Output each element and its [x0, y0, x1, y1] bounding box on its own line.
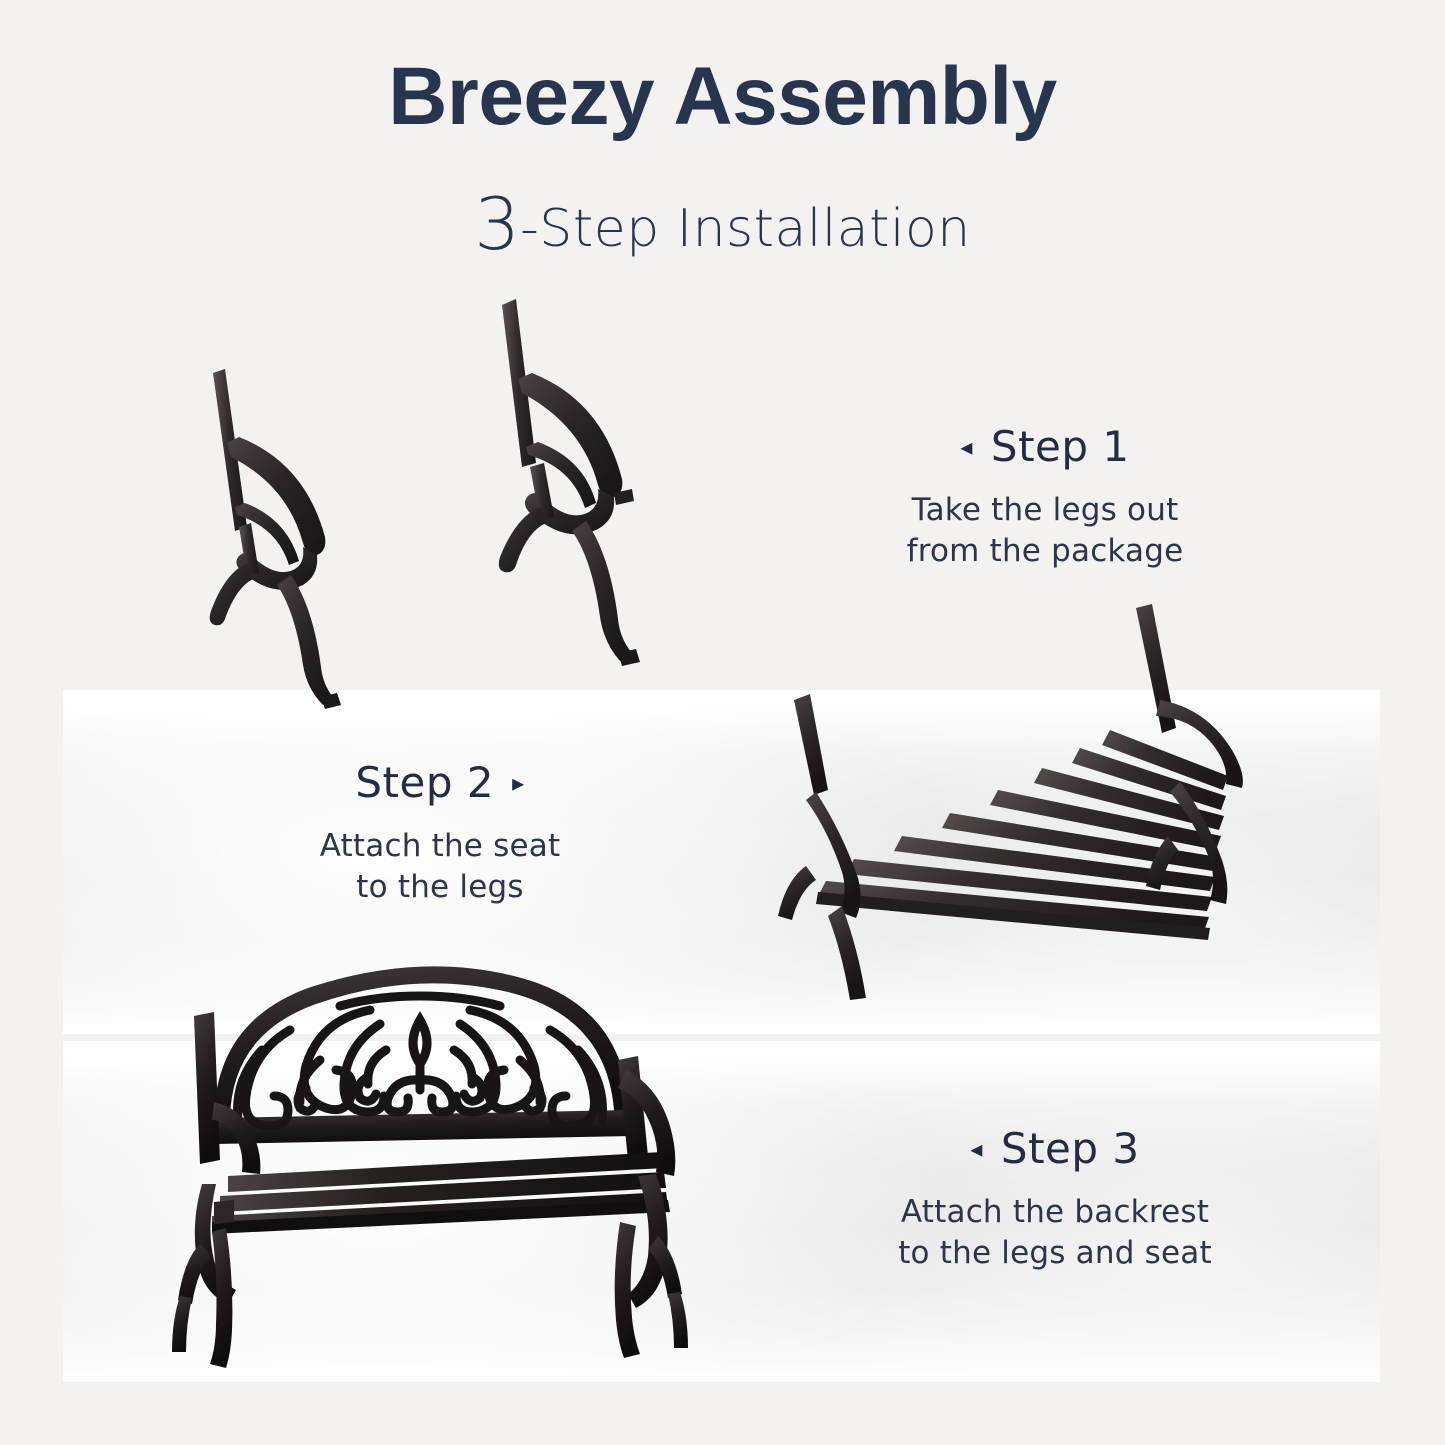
triangle-right-icon: ▸: [512, 771, 525, 795]
step-1-heading: ◂ Step 1: [830, 426, 1260, 468]
subtitle-step-count: 3: [474, 182, 520, 266]
step-3-heading: ◂ Step 3: [840, 1128, 1270, 1170]
step-1-description: Take the legs out from the package: [830, 490, 1260, 572]
page-subtitle: 3-Step Installation: [0, 188, 1445, 260]
step-1-label: Step 1: [991, 426, 1130, 468]
assembly-infographic: Breezy Assembly 3-Step Installation: [0, 0, 1445, 1445]
triangle-left-icon: ◂: [960, 435, 973, 459]
step-3-label: Step 3: [1001, 1128, 1140, 1170]
subtitle-text: -Step Installation: [520, 199, 971, 259]
step-2-caption: Step 2 ▸ Attach the seat to the legs: [225, 762, 655, 908]
step-3-description: Attach the backrest to the legs and seat: [840, 1192, 1270, 1274]
step-3-caption: ◂ Step 3 Attach the backrest to the legs…: [840, 1128, 1270, 1274]
header: Breezy Assembly 3-Step Installation: [0, 0, 1445, 330]
page-title: Breezy Assembly: [0, 56, 1445, 138]
step-2-description: Attach the seat to the legs: [225, 826, 655, 908]
triangle-left-icon: ◂: [970, 1137, 983, 1161]
step-2-heading: Step 2 ▸: [225, 762, 655, 804]
step-1-caption: ◂ Step 1 Take the legs out from the pack…: [830, 426, 1260, 572]
step-2-label: Step 2: [355, 762, 494, 804]
